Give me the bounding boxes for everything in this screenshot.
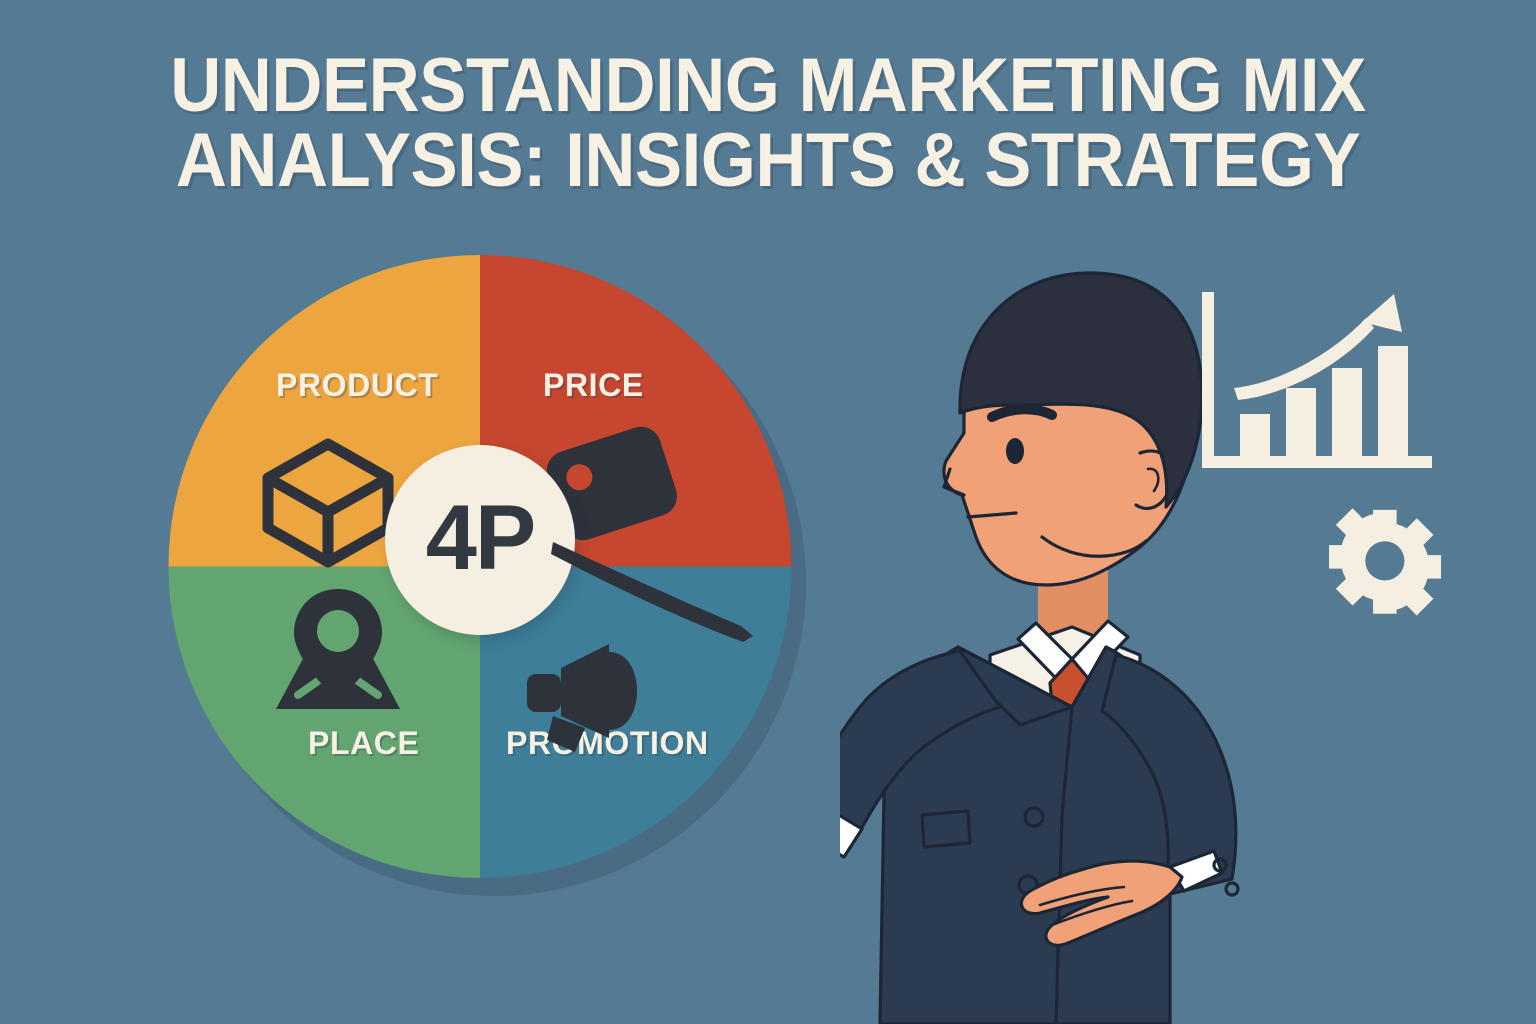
title-line-1: UNDERSTANDING MARKETING MIX [170, 43, 1366, 128]
box-icon [258, 436, 398, 568]
title-line-2: ANALYSIS: INSIGHTS & STRATEGY [54, 123, 1482, 198]
gear-icon [1329, 505, 1441, 617]
quadrant-label-place: PLACE [308, 725, 419, 762]
center-label: 4P [426, 492, 535, 584]
quadrant-label-price: PRICE [543, 367, 644, 404]
growth-chart-icon [1196, 288, 1441, 484]
pointer-stick [545, 530, 805, 660]
page-title: UNDERSTANDING MARKETING MIX ANALYSIS: IN… [54, 48, 1482, 198]
map-pin-icon [268, 583, 408, 718]
quadrant-label-product: PRODUCT [276, 367, 438, 404]
infographic-canvas: UNDERSTANDING MARKETING MIX ANALYSIS: IN… [0, 0, 1536, 1024]
